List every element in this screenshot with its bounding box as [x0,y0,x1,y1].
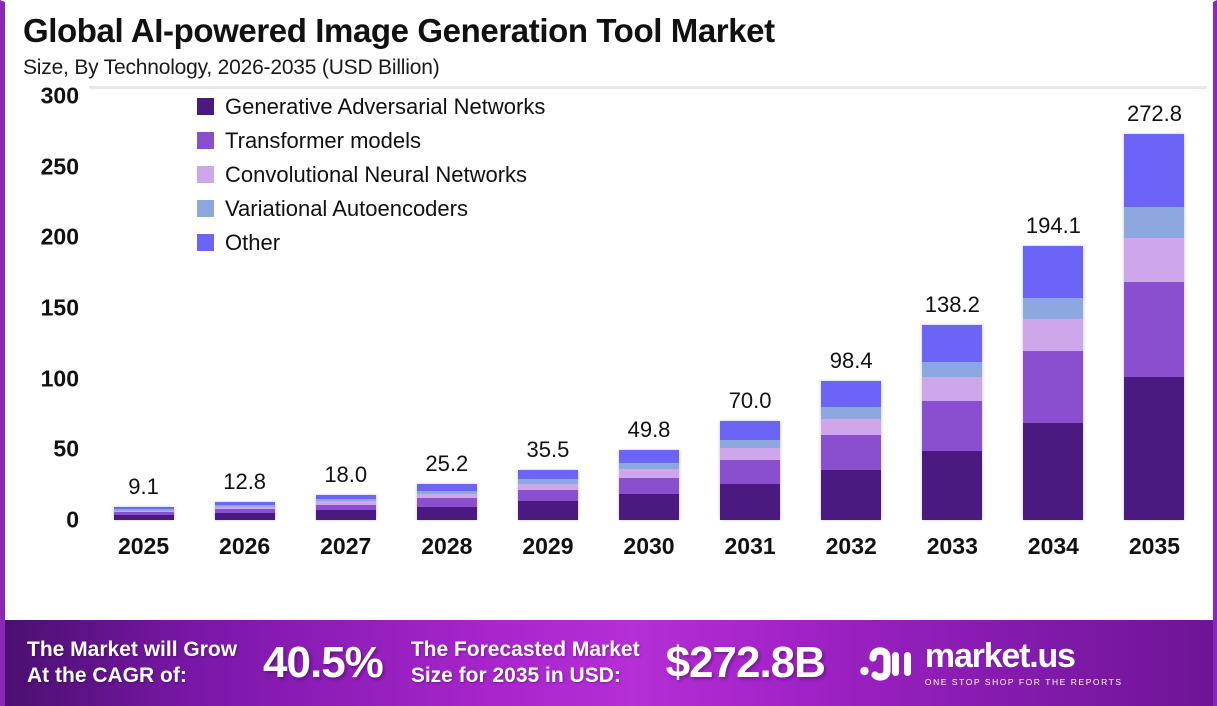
bar-segment[interactable] [720,460,780,484]
legend-label: Generative Adversarial Networks [225,94,545,120]
bar-segment[interactable] [821,435,881,470]
bar-column: 272.8 [1104,96,1205,520]
bar-segment[interactable] [922,362,982,378]
legend-swatch-icon [197,98,214,115]
bar-column: 138.2 [902,96,1003,520]
stacked-bar-chart: 050100150200250300 9.112.818.025.235.549… [5,86,1213,578]
bar-segment[interactable] [518,501,578,520]
legend-swatch-icon [197,200,214,217]
x-axis-tick: 2032 [801,533,902,560]
stacked-bar[interactable]: 25.2 [417,484,477,520]
bar-segment[interactable] [922,377,982,400]
legend-swatch-icon [197,234,214,251]
forecast-label-line1: The Forecasted Market [411,637,640,663]
bar-column: 9.1 [93,96,194,520]
bar-segment[interactable] [1023,351,1083,422]
bar-segment[interactable] [821,419,881,436]
bar-segment[interactable] [619,478,679,495]
y-axis-tick: 0 [66,506,79,533]
stacked-bar[interactable]: 272.8 [1124,134,1184,520]
cagr-value: 40.5% [263,638,383,688]
legend-swatch-icon [197,132,214,149]
bar-segment[interactable] [417,507,477,520]
stacked-bar[interactable]: 9.1 [114,507,174,520]
bar-segment[interactable] [720,421,780,440]
stacked-bar[interactable]: 49.8 [619,450,679,520]
x-axis-tick: 2027 [295,533,396,560]
bar-segment[interactable] [720,448,780,460]
bar-segment[interactable] [922,451,982,520]
bar-segment[interactable] [720,484,780,520]
bar-segment[interactable] [1124,282,1184,378]
brand-tagline: ONE STOP SHOP FOR THE REPORTS [925,677,1123,687]
legend-item[interactable]: Transformer models [197,128,545,154]
bar-segment[interactable] [1124,207,1184,238]
bar-segment[interactable] [114,515,174,520]
bar-column: 70.0 [700,96,801,520]
bar-segment[interactable] [1023,246,1083,298]
bar-segment[interactable] [821,407,881,419]
stacked-bar[interactable]: 194.1 [1023,246,1083,520]
stacked-bar[interactable]: 12.8 [215,502,275,520]
cagr-label-line1: The Market will Grow [27,637,237,663]
bar-value-label: 194.1 [1026,213,1081,239]
legend-label: Variational Autoencoders [225,196,468,222]
legend-label: Other [225,230,280,256]
y-axis-tick: 150 [41,294,79,321]
legend-item[interactable]: Generative Adversarial Networks [197,94,545,120]
footer-banner: The Market will Grow At the CAGR of: 40.… [5,620,1213,706]
y-axis-tick: 300 [41,82,79,109]
bar-value-label: 18.0 [324,462,367,488]
bar-column: 98.4 [801,96,902,520]
stacked-bar[interactable]: 18.0 [316,495,376,520]
stacked-bar[interactable]: 138.2 [922,325,982,520]
bar-segment[interactable] [1124,238,1184,282]
x-axis-tick: 2030 [598,533,699,560]
y-axis-tick: 250 [41,153,79,180]
x-axis-tick: 2028 [396,533,497,560]
forecast-label-line2: Size for 2035 in USD: [411,663,640,689]
chart-legend: Generative Adversarial NetworksTransform… [197,94,545,256]
bar-column: 194.1 [1003,96,1104,520]
bar-segment[interactable] [922,401,982,451]
stacked-bar[interactable]: 70.0 [720,421,780,520]
x-axis-tick: 2029 [497,533,598,560]
y-axis: 050100150200250300 [5,96,87,520]
cagr-label-line2: At the CAGR of: [27,663,237,689]
page-subtitle: Size, By Technology, 2026-2035 (USD Bill… [23,56,1213,80]
bar-segment[interactable] [619,469,679,477]
page-title: Global AI-powered Image Generation Tool … [23,12,1213,50]
bar-segment[interactable] [1124,134,1184,207]
y-axis-tick: 100 [41,365,79,392]
y-axis-tick: 50 [53,436,79,463]
bar-column: 49.8 [598,96,699,520]
x-axis-tick: 2035 [1104,533,1205,560]
bar-segment[interactable] [518,470,578,479]
brand-name: market.us [925,639,1123,673]
bar-value-label: 12.8 [223,469,266,495]
stacked-bar[interactable]: 98.4 [821,381,881,520]
bar-segment[interactable] [1124,377,1184,520]
cagr-label: The Market will Grow At the CAGR of: [27,637,237,688]
forecast-value: $272.8B [666,638,825,688]
legend-label: Transformer models [225,128,421,154]
bar-segment[interactable] [720,440,780,449]
bar-value-label: 138.2 [925,292,980,318]
bar-segment[interactable] [215,513,275,520]
x-axis-baseline [89,86,1207,89]
x-axis-tick: 2034 [1003,533,1104,560]
x-axis-tick: 2031 [700,533,801,560]
brand-logo-text: market.us ONE STOP SHOP FOR THE REPORTS [925,639,1123,687]
bar-value-label: 25.2 [425,451,468,477]
legend-item[interactable]: Convolutional Neural Networks [197,162,545,188]
x-axis-tick: 2033 [902,533,1003,560]
bar-segment[interactable] [417,498,477,506]
legend-item[interactable]: Variational Autoencoders [197,196,545,222]
legend-item[interactable]: Other [197,230,545,256]
x-axis-tick: 2026 [194,533,295,560]
bar-value-label: 49.8 [628,417,671,443]
bar-segment[interactable] [619,494,679,520]
bar-segment[interactable] [1023,298,1083,319]
bar-segment[interactable] [1023,319,1083,351]
bar-segment[interactable] [1023,423,1083,520]
market-us-logo-icon [859,641,915,685]
bar-segment[interactable] [821,381,881,407]
legend-swatch-icon [197,166,214,183]
bar-segment[interactable] [316,510,376,520]
x-axis: 2025202620272028202920302031203220332034… [93,524,1205,570]
bar-value-label: 272.8 [1127,101,1182,127]
stacked-bar[interactable]: 35.5 [518,470,578,520]
brand-logo[interactable]: market.us ONE STOP SHOP FOR THE REPORTS [859,639,1123,687]
legend-label: Convolutional Neural Networks [225,162,527,188]
x-axis-tick: 2025 [93,533,194,560]
bar-segment[interactable] [821,470,881,520]
forecast-label: The Forecasted Market Size for 2035 in U… [411,637,640,688]
infographic-root: Global AI-powered Image Generation Tool … [0,0,1217,706]
chart-header: Global AI-powered Image Generation Tool … [5,2,1213,80]
bar-value-label: 35.5 [527,437,570,463]
bar-segment[interactable] [518,490,578,502]
bar-segment[interactable] [922,325,982,362]
bar-value-label: 98.4 [830,348,873,374]
bar-segment[interactable] [619,450,679,463]
bar-value-label: 9.1 [128,474,159,500]
bar-value-label: 70.0 [729,388,772,414]
y-axis-tick: 200 [41,224,79,251]
